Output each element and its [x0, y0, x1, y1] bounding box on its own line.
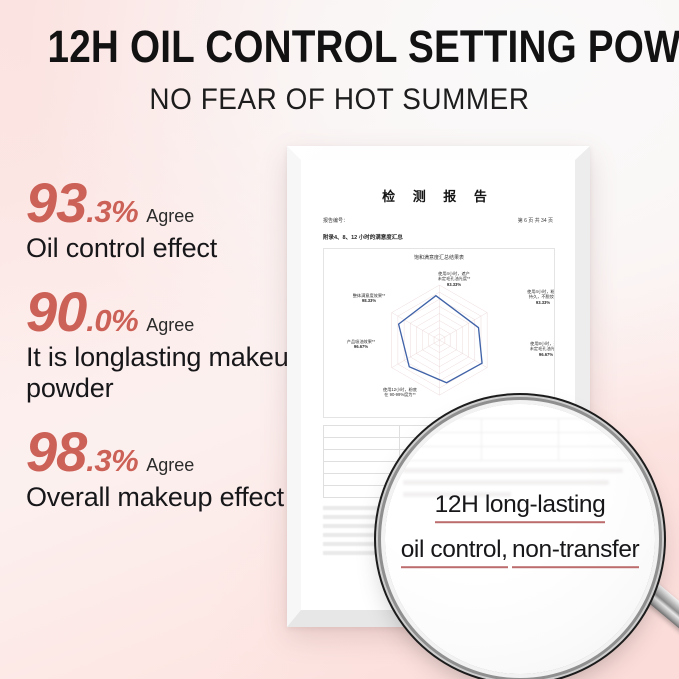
stat-description: Overall makeup effect — [26, 482, 306, 513]
stat-value-decimal: .0% — [86, 305, 138, 336]
report-title: 检 测 报 告 — [323, 186, 553, 205]
stat-agree-label: Agree — [146, 206, 194, 227]
radar-axis-label-1: 使用4小时，遮产未定毛孔油光度**93.33% — [412, 271, 496, 287]
page-title: 12H OIL CONTROL SETTING POWDER — [48, 24, 632, 69]
stat-agree-label: Agree — [146, 315, 194, 336]
promo-banner: 12H OIL CONTROL SETTING POWDER NO FEAR O… — [0, 0, 679, 679]
stat-item: 98 .3% Agree Overall makeup effect — [26, 425, 306, 512]
table-row — [404, 447, 637, 461]
table-row — [404, 419, 637, 433]
callout-line-2: oil control, — [401, 537, 508, 568]
report-meta: 报告编号： 第 6 页 共 34 页 — [323, 217, 553, 224]
radar-axis-label-4: 使用12小时，粉底在 90-99%度为** — [360, 387, 440, 398]
magnifier-lens: 12H long-lasting oil control, non-transf… — [385, 404, 655, 674]
header: 12H OIL CONTROL SETTING POWDER NO FEAR O… — [0, 24, 679, 115]
radar-axis-label-6: 整体满意度效果**98.33% — [334, 293, 404, 304]
callout-line-1: 12H long-lasting — [435, 492, 606, 523]
stat-value-whole: 98 — [26, 425, 86, 480]
stat-value-decimal: .3% — [86, 445, 138, 476]
report-meta-right: 第 6 页 共 34 页 — [518, 217, 553, 224]
stat-item: 93 .3% Agree Oil control effect — [26, 176, 306, 263]
magnifier-callout: 12H long-lasting oil control, non-transf… — [385, 492, 655, 582]
magnified-line — [403, 468, 623, 473]
radar-chart: 饱和满意度汇总结果表 — [323, 248, 555, 418]
radar-axis-label-2: 使用4小时，粉底持久，不脱妆**93.33% — [507, 289, 555, 305]
magnified-table — [403, 418, 637, 461]
table-row — [404, 433, 637, 447]
page-subtitle: NO FEAR OF HOT SUMMER — [24, 85, 655, 115]
stat-description: Oil control effect — [26, 233, 306, 264]
magnified-line — [403, 480, 609, 485]
stat-item: 90 .0% Agree It is longlasting makeup po… — [26, 285, 306, 403]
stat-agree-label: Agree — [146, 455, 194, 476]
radar-axis-label-5: 产品吸油效果**96.67% — [328, 339, 394, 350]
stat-value-whole: 93 — [26, 176, 86, 231]
stat-description: It is longlasting makeup powder — [26, 342, 306, 403]
radar-axis-label-3: 使用8小时，遮产未定毛孔油光度**96.67% — [510, 341, 555, 357]
callout-line-3: non-transfer — [512, 537, 639, 568]
stats-list: 93 .3% Agree Oil control effect 90 .0% A… — [26, 176, 306, 535]
stat-value-whole: 90 — [26, 285, 86, 340]
report-section-heading: 附录4、8、12 小时的满意度汇总 — [323, 233, 553, 241]
report-meta-left: 报告编号： — [323, 217, 348, 224]
chart-title: 饱和满意度汇总结果表 — [324, 254, 554, 261]
stat-value-decimal: .3% — [86, 196, 138, 227]
